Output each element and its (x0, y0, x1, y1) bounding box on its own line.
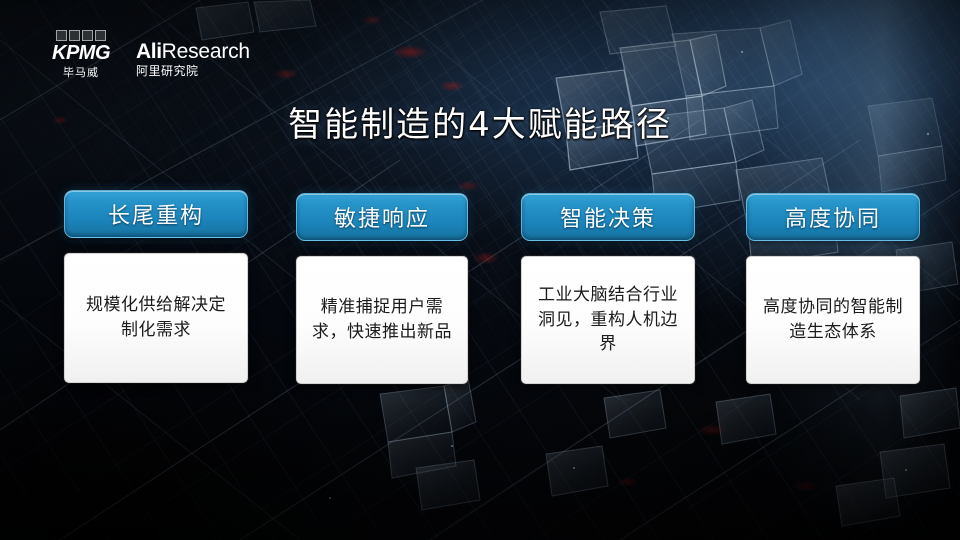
pathway-card-text-1: 规模化供给解决定制化需求 (79, 293, 233, 342)
pathway-pill-1[interactable]: 长尾重构 (64, 190, 248, 238)
pathway-column-2: 敏捷响应 精准捕捉用户需求，快速推出新品 (296, 193, 468, 384)
pathway-card-text-4: 高度协同的智能制造生态体系 (761, 295, 905, 344)
pathway-card-3[interactable]: 工业大脑结合行业洞见，重构人机边界 (521, 256, 695, 384)
pathway-card-4[interactable]: 高度协同的智能制造生态体系 (746, 256, 920, 384)
presentation-slide: KPMG 毕马威 AliResearch 阿里研究院 智能制造的4大赋能路径 长… (0, 0, 960, 540)
aliresearch-chinese-name: 阿里研究院 (136, 65, 250, 77)
pathway-pill-label-4: 高度协同 (785, 201, 881, 233)
pathway-pill-label-2: 敏捷响应 (334, 201, 430, 233)
pathway-pill-label-3: 智能决策 (560, 201, 656, 233)
kpmg-chinese-name: 毕马威 (63, 67, 99, 78)
pathway-pill-2[interactable]: 敏捷响应 (296, 193, 468, 241)
pathway-column-1: 长尾重构 规模化供给解决定制化需求 (64, 190, 248, 383)
pathway-pill-label-1: 长尾重构 (108, 198, 204, 230)
aliresearch-wordmark-bold: Ali (136, 40, 162, 63)
kpmg-squares-icon (56, 30, 106, 41)
pathway-column-3: 智能决策 工业大脑结合行业洞见，重构人机边界 (521, 193, 695, 384)
logo-bar: KPMG 毕马威 AliResearch 阿里研究院 (52, 30, 250, 78)
kpmg-logo: KPMG 毕马威 (52, 30, 110, 78)
pathway-columns: 长尾重构 规模化供给解决定制化需求 敏捷响应 精准捕捉用户需求，快速推出新品 智… (0, 0, 960, 540)
pathway-card-text-3: 工业大脑结合行业洞见，重构人机边界 (536, 283, 680, 357)
aliresearch-wordmark-light: Research (162, 40, 250, 63)
aliresearch-wordmark: AliResearch (136, 41, 250, 62)
kpmg-wordmark: KPMG (52, 43, 110, 63)
pathway-card-text-2: 精准捕捉用户需求，快速推出新品 (311, 295, 453, 344)
aliresearch-logo: AliResearch 阿里研究院 (136, 41, 250, 78)
pathway-column-4: 高度协同 高度协同的智能制造生态体系 (746, 193, 920, 384)
pathway-card-2[interactable]: 精准捕捉用户需求，快速推出新品 (296, 256, 468, 384)
page-title: 智能制造的4大赋能路径 (0, 97, 960, 146)
pathway-pill-4[interactable]: 高度协同 (746, 193, 920, 241)
pathway-pill-3[interactable]: 智能决策 (521, 193, 695, 241)
pathway-card-1[interactable]: 规模化供给解决定制化需求 (64, 253, 248, 383)
